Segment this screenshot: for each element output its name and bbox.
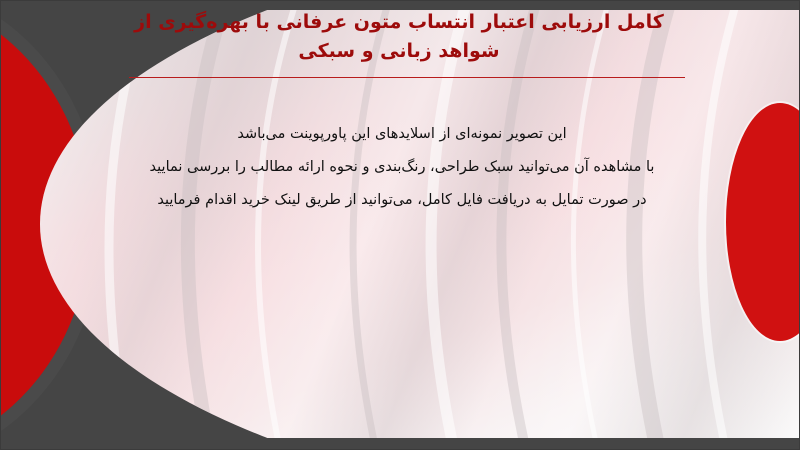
body-line-2: با مشاهده آن می‌توانید سبک طراحی، رنگ‌بن… <box>112 151 692 184</box>
title-divider-rule <box>129 77 685 78</box>
content-panel-clip <box>0 10 800 438</box>
slide-title-line-1: کامل ارزیابی اعتبار انتساب متون عرفانی ب… <box>110 8 688 37</box>
slide-body-text: این تصویر نمونه‌ای از اسلایدهای این پاور… <box>112 118 692 217</box>
slide-title-line-2: شواهد زبانی و سبکی <box>110 37 688 66</box>
presentation-slide: کامل ارزیابی اعتبار انتساب متون عرفانی ب… <box>0 0 800 450</box>
background-streaks-decoration <box>0 10 800 438</box>
slide-title: کامل ارزیابی اعتبار انتساب متون عرفانی ب… <box>110 8 688 66</box>
body-line-3: در صورت تمایل به دریافت فایل کامل، می‌تو… <box>112 184 692 217</box>
content-panel <box>0 10 800 438</box>
body-line-1: این تصویر نمونه‌ای از اسلایدهای این پاور… <box>112 118 692 151</box>
